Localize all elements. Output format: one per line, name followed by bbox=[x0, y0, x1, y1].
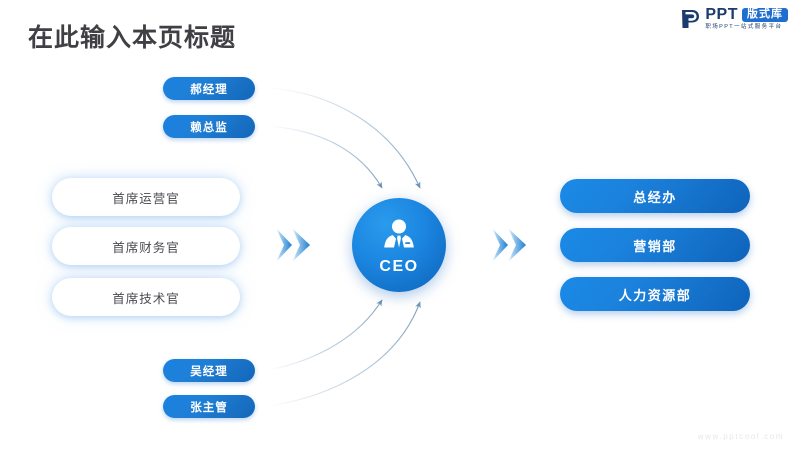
pill-top-2[interactable]: 赖总监 bbox=[163, 115, 255, 138]
logo-text-group: PPT 版式库 职场PPT一站式服务平台 bbox=[705, 7, 788, 31]
slide-canvas: 在此输入本页标题 PPT 版式库 职场PPT一站式服务平台 bbox=[0, 0, 800, 450]
pill-bottom-2[interactable]: 张主管 bbox=[163, 395, 255, 418]
card-cfo[interactable]: 首席财务官 bbox=[52, 227, 240, 265]
card-coo[interactable]: 首席运营官 bbox=[52, 178, 240, 216]
pill-top-1[interactable]: 郝经理 bbox=[163, 77, 255, 100]
pill-right-2[interactable]: 营销部 bbox=[560, 228, 750, 262]
logo-badge: 版式库 bbox=[742, 8, 788, 22]
pill-right-1[interactable]: 总经办 bbox=[560, 179, 750, 213]
logo-name: PPT bbox=[705, 7, 738, 23]
person-suit-icon bbox=[379, 219, 419, 258]
footer-watermark: www.pptcool.com bbox=[698, 432, 784, 441]
ceo-label: CEO bbox=[379, 259, 418, 275]
p-logo-icon bbox=[679, 8, 701, 30]
page-title: 在此输入本页标题 bbox=[28, 18, 236, 54]
brand-logo: PPT 版式库 职场PPT一站式服务平台 bbox=[679, 7, 788, 31]
pill-bottom-1[interactable]: 吴经理 bbox=[163, 359, 255, 382]
ceo-node[interactable]: CEO bbox=[352, 198, 446, 292]
logo-subtitle: 职场PPT一站式服务平台 bbox=[705, 25, 782, 31]
pill-right-3[interactable]: 人力资源部 bbox=[560, 277, 750, 311]
chevron-right-icon-left bbox=[276, 228, 310, 262]
logo-main-row: PPT 版式库 bbox=[705, 7, 788, 23]
card-cto[interactable]: 首席技术官 bbox=[52, 278, 240, 316]
chevron-right-icon-right bbox=[492, 228, 526, 262]
